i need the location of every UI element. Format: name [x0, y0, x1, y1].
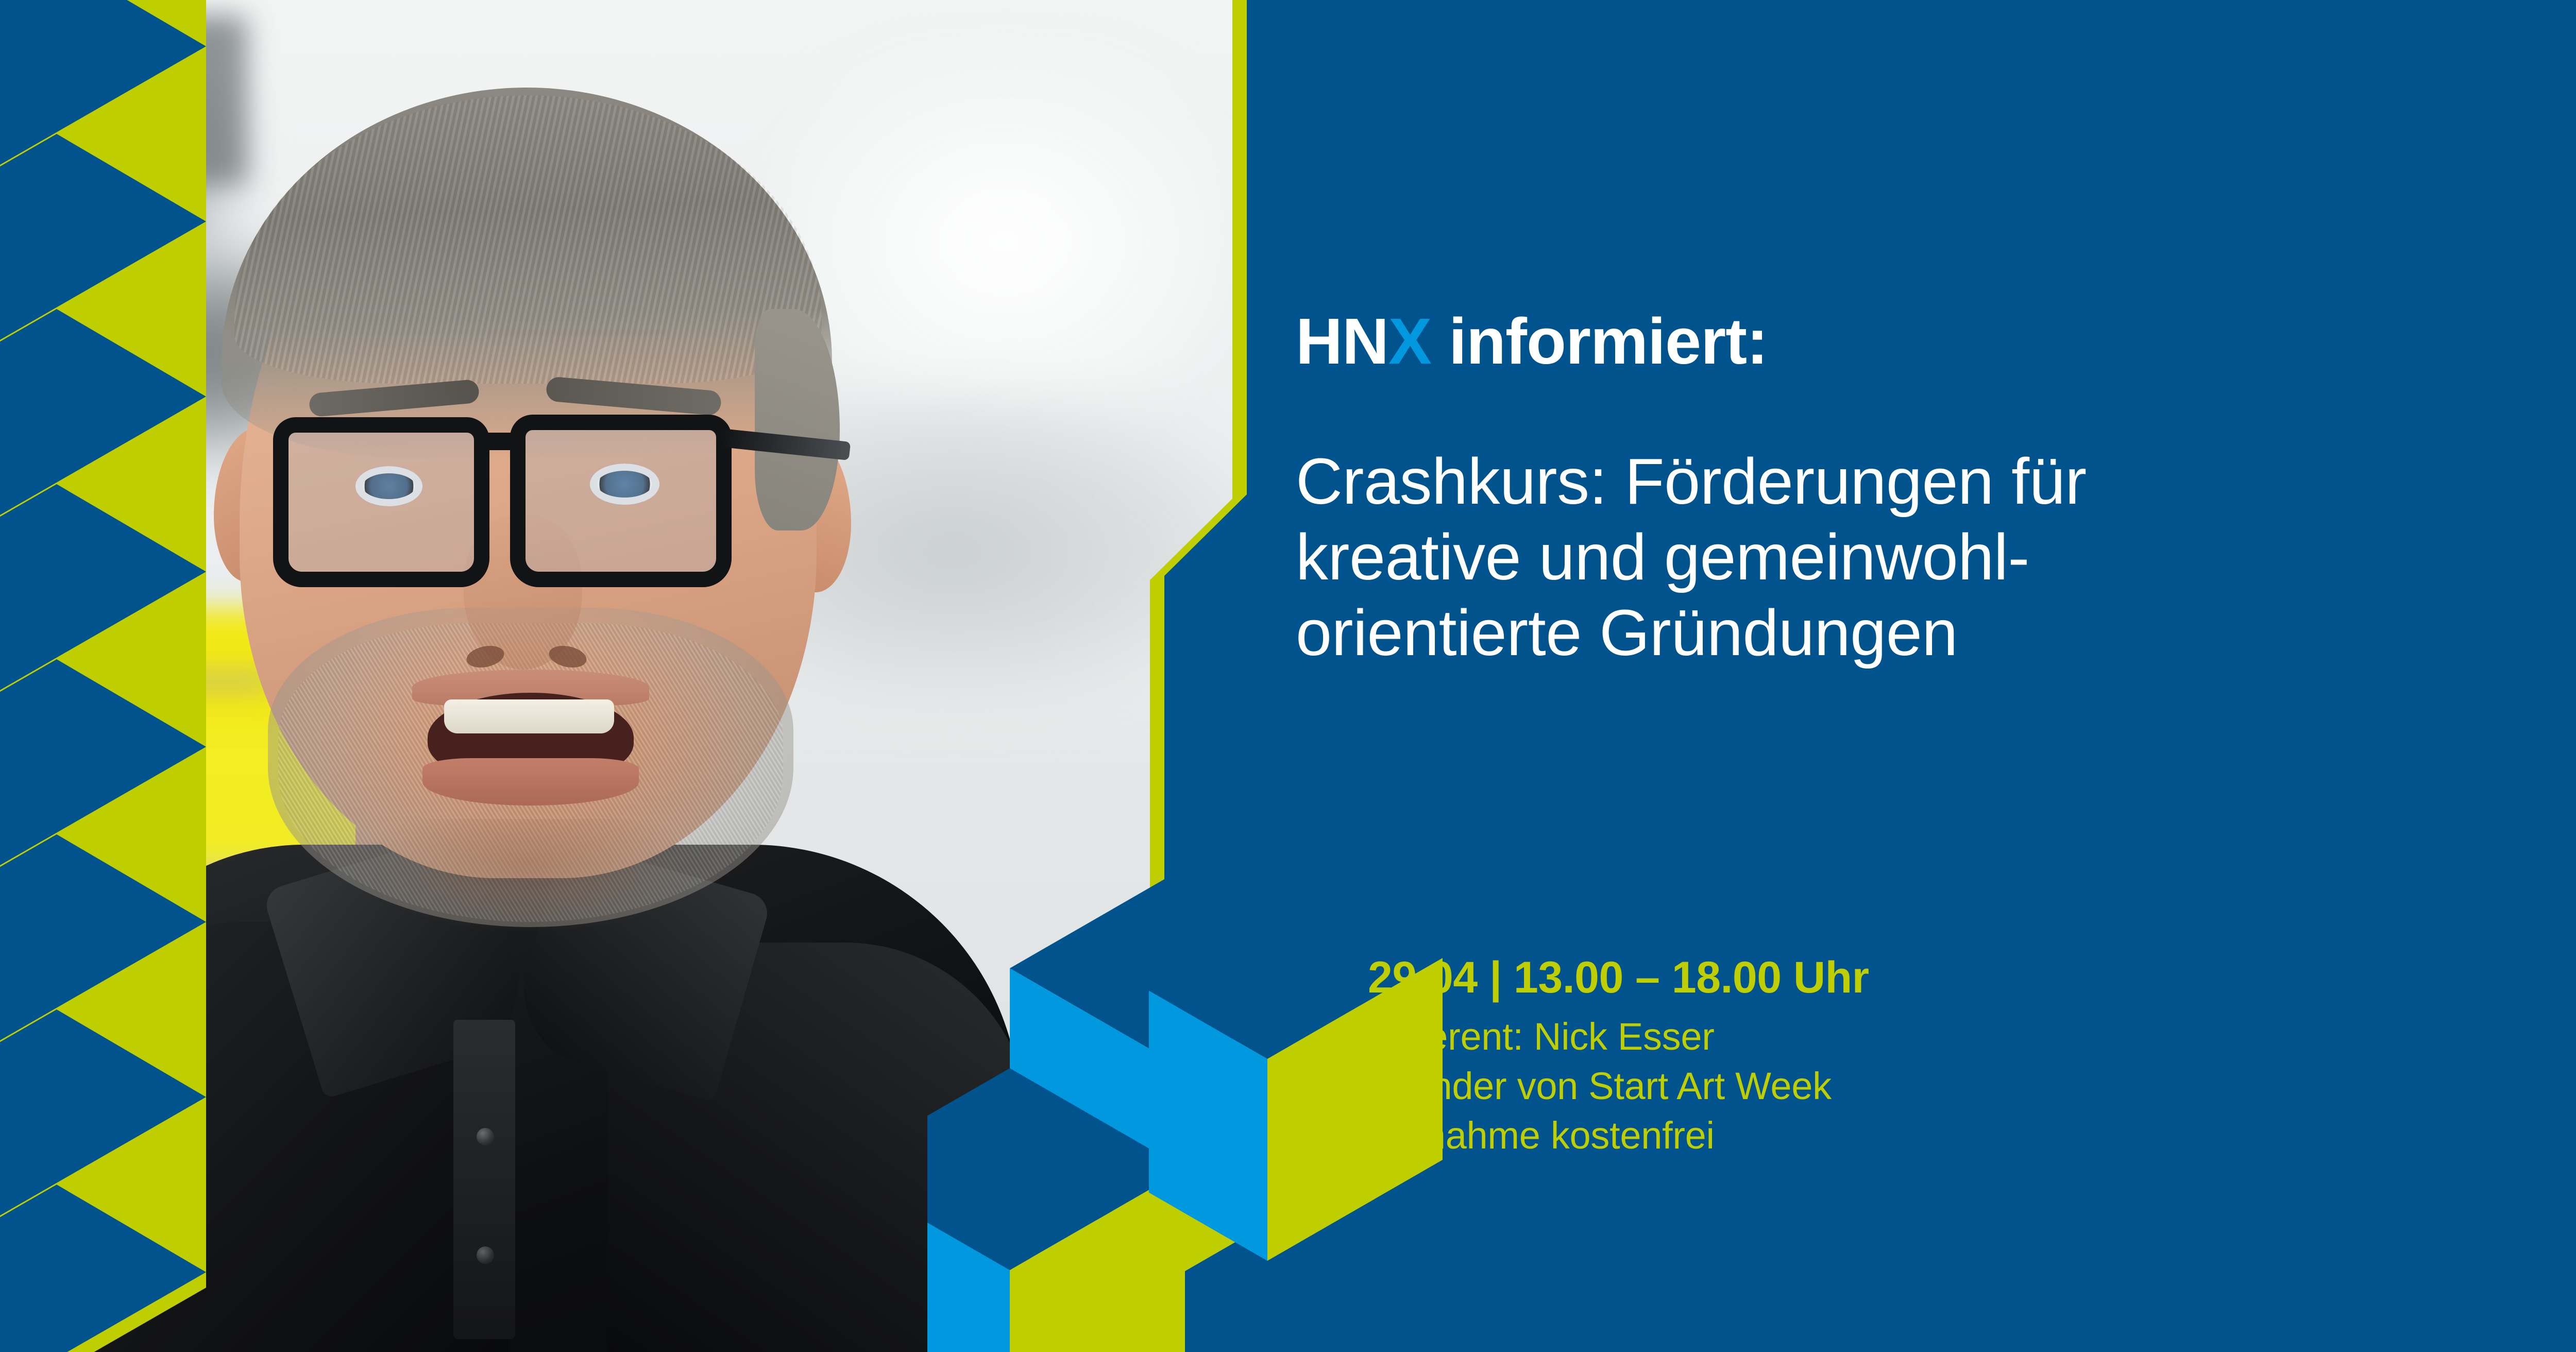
headline-line-1: Crashkurs: Förderungen für [1296, 444, 2543, 520]
event-date-time: 29.04 | 13.00 – 18.00 Uhr [1368, 955, 2501, 1001]
speaker-name: Referent: Nick Esser [1368, 1012, 2501, 1062]
page-title: Crashkurs: Förderungen für kreative und … [1296, 444, 2543, 671]
speaker-role: Gründer von Start Art Week [1368, 1062, 2501, 1111]
headline-line-3: orientierte Gründungen [1296, 595, 2543, 671]
text-column: HNX informiert: Crashkurs: Förderungen f… [1296, 0, 2576, 1352]
event-details: 29.04 | 13.00 – 18.00 Uhr Referent: Nick… [1368, 955, 2501, 1160]
eyebrow-suffix: informiert: [1431, 305, 1768, 378]
eyebrow-prefix: HN [1296, 305, 1388, 378]
event-meta: Referent: Nick Esser Gründer von Start A… [1368, 1012, 2501, 1161]
headline-line-2: kreative und gemeinwohl- [1296, 520, 2543, 595]
participation-note: Teilnahme kostenfrei [1368, 1111, 2501, 1160]
event-announcement-banner: HNX informiert: Crashkurs: Förderungen f… [0, 0, 2576, 1352]
eyebrow-title: HNX informiert: [1296, 309, 1768, 374]
eyebrow-accent-letter: X [1388, 305, 1431, 378]
